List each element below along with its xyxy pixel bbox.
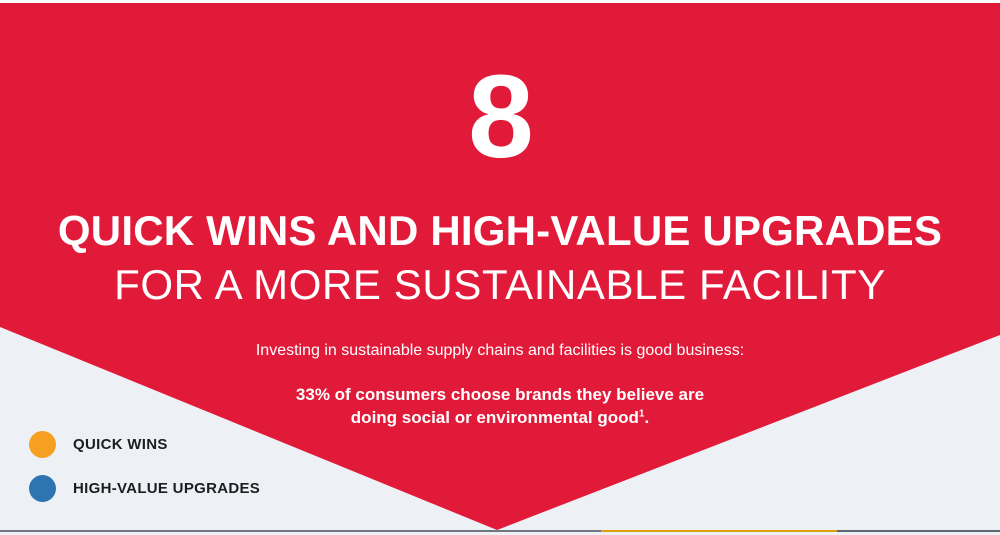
legend-item-quick-wins[interactable]: QUICK WINS [29, 426, 260, 462]
legend-item-label: HIGH-VALUE UPGRADES [73, 480, 260, 497]
infographic-header-banner: 8 QUICK WINS AND HIGH-VALUE UPGRADES FOR… [0, 0, 1000, 535]
big-number-eight: 8 [0, 58, 1000, 176]
legend: QUICK WINS HIGH-VALUE UPGRADES [29, 426, 260, 514]
legend-item-label: QUICK WINS [73, 436, 168, 453]
bottom-rule-right-grey [837, 530, 1000, 532]
bottom-rule-gold [601, 530, 837, 532]
statistic-line-1: 33% of consumers choose brands they beli… [0, 383, 1000, 406]
intro-text: Investing in sustainable supply chains a… [0, 340, 1000, 362]
circle-icon [29, 475, 56, 502]
top-white-strip [0, 0, 1000, 3]
bottom-rule-left-grey [0, 530, 601, 532]
headline-primary: QUICK WINS AND HIGH-VALUE UPGRADES [0, 207, 1000, 255]
circle-icon [29, 431, 56, 458]
statistic-block: 33% of consumers choose brands they beli… [0, 383, 1000, 429]
statistic-line-2-period: . [644, 408, 649, 427]
statistic-line-2-text: doing social or environmental good [351, 408, 639, 427]
legend-item-high-value-upgrades[interactable]: HIGH-VALUE UPGRADES [29, 470, 260, 506]
headline-secondary: FOR A MORE SUSTAINABLE FACILITY [0, 261, 1000, 309]
